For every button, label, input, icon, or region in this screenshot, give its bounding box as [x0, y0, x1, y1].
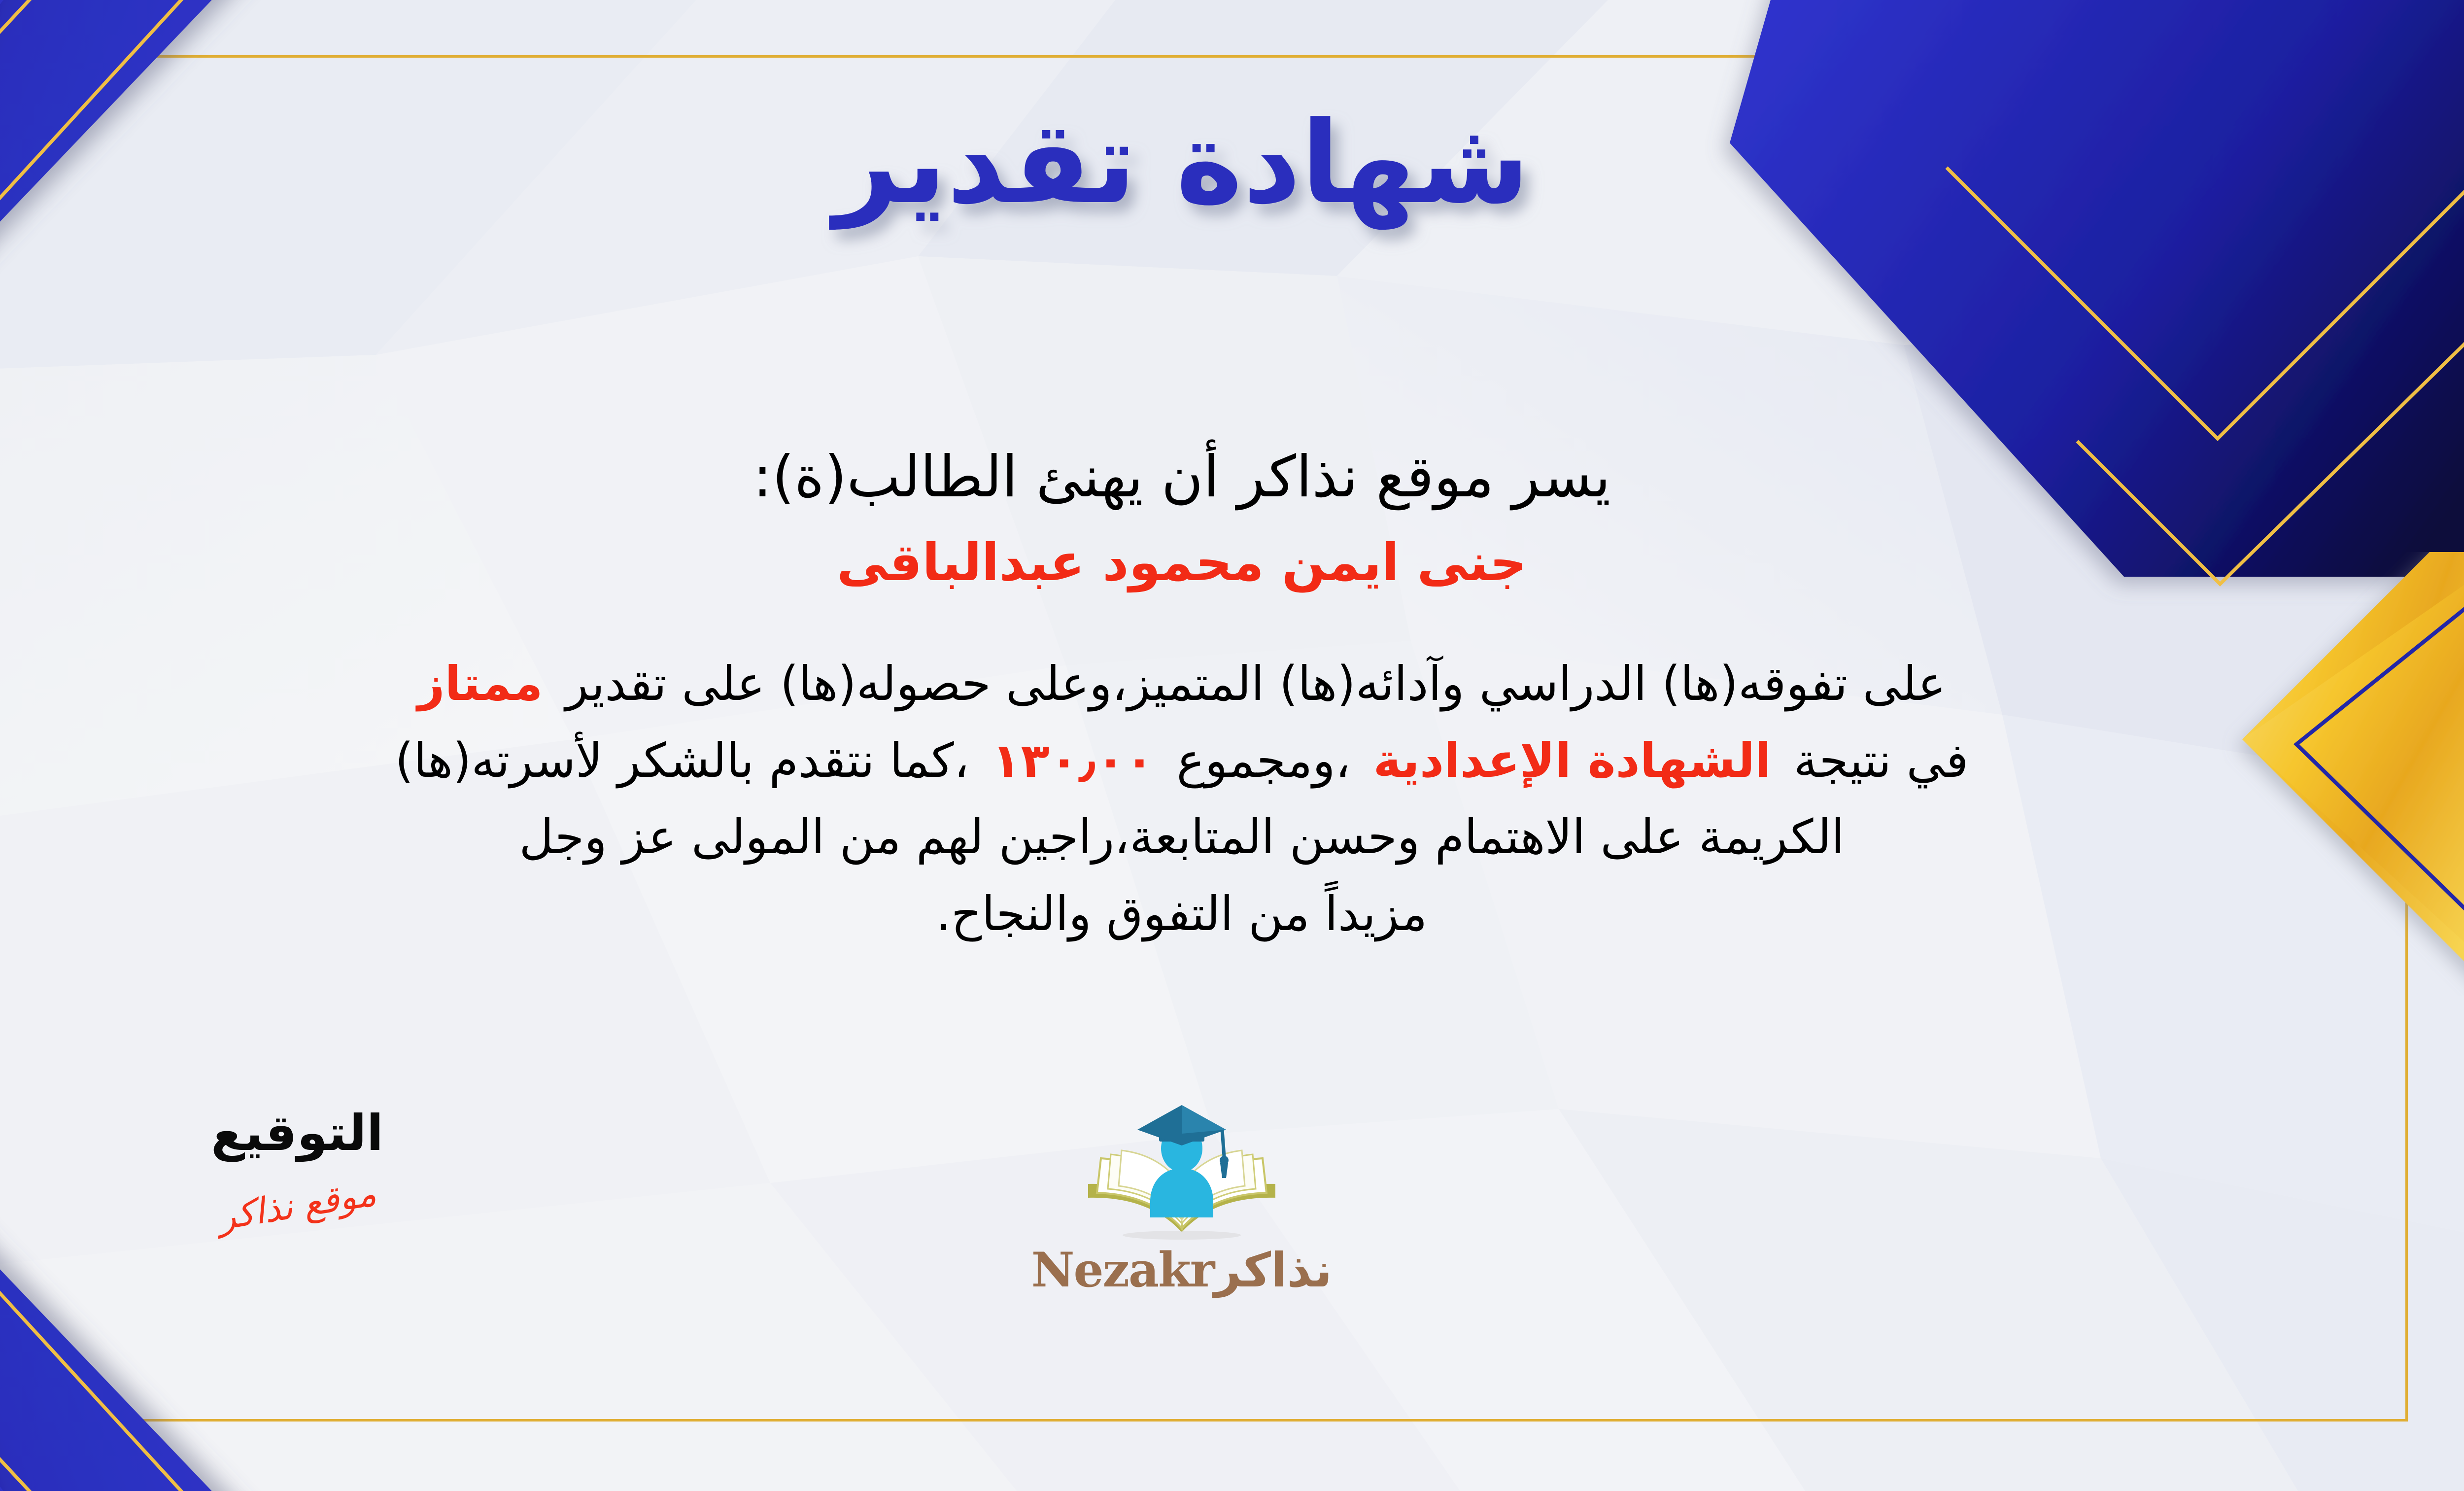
body-line3: الكريمة على الاهتمام وحسن المتابعة،راجين… — [519, 809, 1844, 865]
brand-logo-wordmark: Nezakrنذاكر — [994, 1242, 1369, 1298]
body-line2-mid: ،ومجموع — [1176, 733, 1350, 788]
certificate-title-calligraphy: شهادة تقدير — [775, 81, 1588, 244]
exam-name: الشهادة الإعدادية — [1373, 733, 1771, 788]
certificate-content: شهادة تقدير يسر موقع نذاكر أن يهنئ الطال… — [0, 64, 2382, 1415]
brand-name-arabic: نذاكر — [1214, 1243, 1332, 1298]
signature-block: التوقيع موقع نذاكر — [144, 1104, 450, 1226]
certificate-title-text: شهادة تقدير — [829, 98, 1530, 230]
certificate-title: شهادة تقدير — [0, 84, 2382, 242]
grade-value: ممتاز — [417, 656, 543, 711]
brand-name-latin: Nezakr — [1031, 1242, 1214, 1298]
signature-mark: موقع نذاكر — [215, 1172, 379, 1238]
body-line2-suffix: ،كما نتقدم بالشكر لأسرته(ها) — [395, 733, 969, 788]
student-name: جنى ايمن محمود عبدالباقى — [0, 532, 2382, 592]
signature-label: التوقيع — [144, 1104, 450, 1162]
total-score: ١٣٠٫٠٠ — [992, 733, 1154, 788]
body-line2-prefix: في نتيجة — [1794, 733, 1969, 788]
body-line4: مزيداً من التفوق والنجاح. — [936, 886, 1428, 941]
certificate-page: شهادة تقدير يسر موقع نذاكر أن يهنئ الطال… — [0, 0, 2464, 1491]
greeting-line: يسر موقع نذاكر أن يهنئ الطالب(ة): — [0, 444, 2382, 510]
brand-logo: Nezakrنذاكر — [994, 1099, 1369, 1298]
graduate-book-icon — [1078, 1099, 1285, 1247]
body-paragraph: على تفوقه(ها) الدراسي وآدائه(ها) المتميز… — [11, 646, 2352, 952]
body-line1-text: على تفوقه(ها) الدراسي وآدائه(ها) المتميز… — [566, 656, 1946, 711]
